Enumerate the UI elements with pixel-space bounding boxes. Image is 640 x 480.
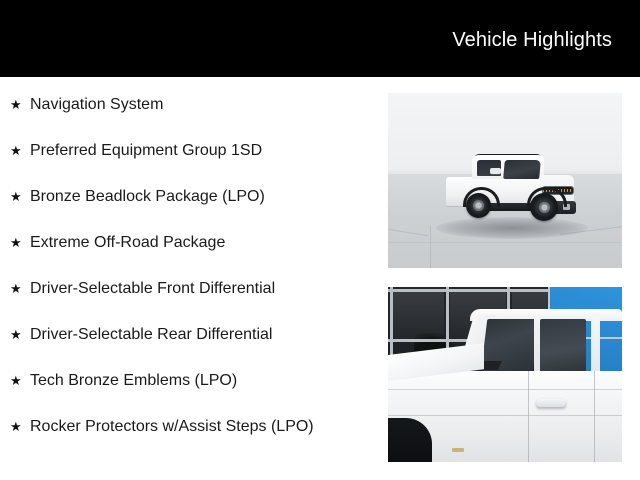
truck-windshield [503,160,541,179]
vehicle-photo-gallery [388,93,622,462]
floor-seam [388,242,622,243]
list-item-label: Tech Bronze Emblems (LPO) [30,372,237,389]
list-item-label: Bronze Beadlock Package (LPO) [30,188,265,205]
list-item: ★ Tech Bronze Emblems (LPO) [0,369,372,393]
floor-seam [388,229,428,236]
star-bullet-icon: ★ [10,93,22,117]
star-bullet-icon: ★ [10,185,22,209]
body-crease [388,389,622,390]
star-bullet-icon: ★ [10,415,22,439]
list-item-label: Driver-Selectable Front Differential [30,280,275,297]
vehicle-highlights-list: ★ Navigation System ★ Preferred Equipmen… [0,93,372,439]
list-item: ★ Driver-Selectable Front Differential [0,277,372,301]
list-item-label: Driver-Selectable Rear Differential [30,326,272,343]
truck-illustration [444,149,584,241]
truck-mirror [490,168,501,174]
door-seam [594,371,595,462]
list-item: ★ Rocker Protectors w/Assist Steps (LPO) [0,415,372,439]
star-bullet-icon: ★ [10,231,22,255]
truck-wheel [530,193,558,221]
suv-illustration [388,303,622,462]
suv-c-pillar [591,313,600,377]
star-bullet-icon: ★ [10,139,22,163]
content-area: ★ Navigation System ★ Preferred Equipmen… [0,77,640,480]
body-crease [388,415,622,416]
list-item-label: Navigation System [30,96,163,113]
list-item: ★ Preferred Equipment Group 1SD [0,139,372,163]
suv-badge [452,448,464,452]
header-bar: Vehicle Highlights [0,0,640,77]
suv-door-handle [536,399,566,408]
star-bullet-icon: ★ [10,277,22,301]
list-item: ★ Bronze Beadlock Package (LPO) [0,185,372,209]
suv-rear-door-window [540,319,586,375]
list-item: ★ Driver-Selectable Rear Differential [0,323,372,347]
list-item: ★ Navigation System [0,93,372,117]
list-item-label: Extreme Off-Road Package [30,234,225,251]
wheel-hub [539,202,550,213]
vehicle-photo-side-detail[interactable] [388,287,622,462]
star-bullet-icon: ★ [10,323,22,347]
list-item: ★ Extreme Off-Road Package [0,231,372,255]
list-item-label: Preferred Equipment Group 1SD [30,142,262,159]
vehicle-photo-exterior-front[interactable] [388,93,622,268]
truck-wheel [466,193,491,218]
star-bullet-icon: ★ [10,369,22,393]
page-title: Vehicle Highlights [452,29,612,51]
floor-seam [430,226,431,268]
list-item-label: Rocker Protectors w/Assist Steps (LPO) [30,418,314,435]
door-seam [528,371,529,462]
wheel-hub [473,200,484,211]
